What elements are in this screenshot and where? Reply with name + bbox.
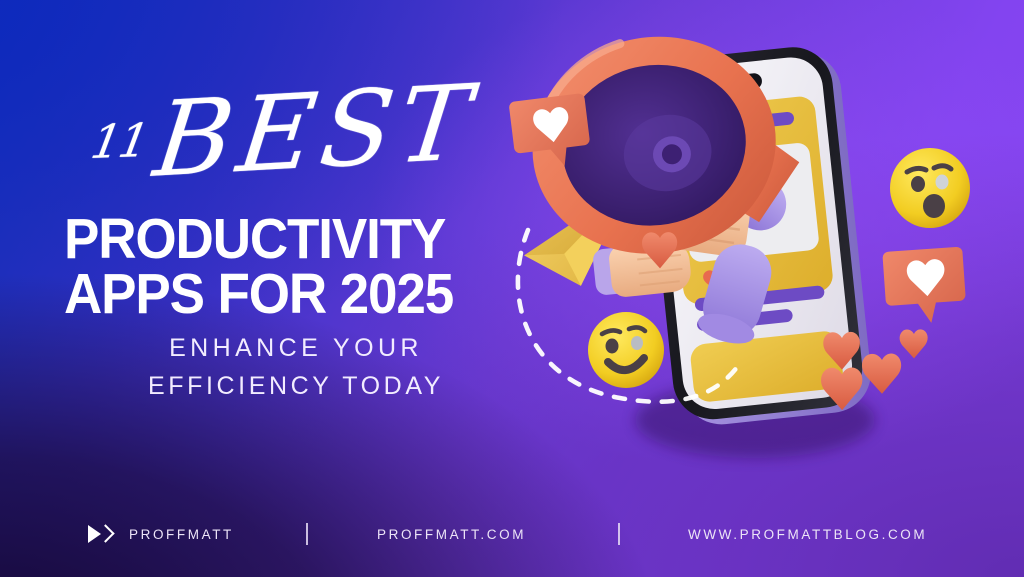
emoji-eye-right: [936, 175, 949, 190]
headline-line-2: APPS FOR 2025: [64, 267, 453, 322]
script-word: BEST: [149, 75, 480, 188]
subtitle-line-1: ENHANCE YOUR: [169, 334, 423, 362]
heart-speech-bubble-right: [882, 247, 967, 326]
brand-block: PROFFMATT: [88, 524, 234, 544]
illustration-group: [470, 0, 1024, 470]
emoji-mouth: [923, 194, 945, 218]
footer-bar: PROFFMATT PROFFMATT.COM WWW.PROFMATTBLOG…: [0, 491, 1024, 577]
footer-separator-2: [618, 523, 620, 545]
script-number: 11: [88, 117, 151, 165]
subtitle-line-2: EFFICIENCY TODAY: [146, 368, 446, 406]
footer-blog-url[interactable]: WWW.PROFMATTBLOG.COM: [688, 527, 927, 542]
floating-heart-small: [900, 329, 928, 358]
emoji-eye-left: [911, 176, 925, 192]
script-headline: 11 BEST: [92, 84, 474, 180]
surprised-face-emoji: [890, 148, 970, 228]
headline-block: 11 BEST PRODUCTIVITY APPS FOR 2025 ENHAN…: [0, 0, 510, 470]
play-triangle-icon: [88, 524, 116, 544]
emoji-eye-left: [606, 339, 619, 354]
subtitle: ENHANCE YOUR EFFICIENCY TODAY: [146, 330, 446, 405]
footer-separator-1: [306, 523, 308, 545]
promo-banner: 11 BEST PRODUCTIVITY APPS FOR 2025 ENHAN…: [0, 0, 1024, 577]
page-title: PRODUCTIVITY APPS FOR 2025: [64, 212, 453, 323]
brand-name: PROFFMATT: [129, 527, 234, 542]
smiling-face-emoji: [588, 312, 664, 388]
footer-site-url[interactable]: PROFFMATT.COM: [377, 527, 526, 542]
emoji-eye-right: [631, 336, 643, 350]
